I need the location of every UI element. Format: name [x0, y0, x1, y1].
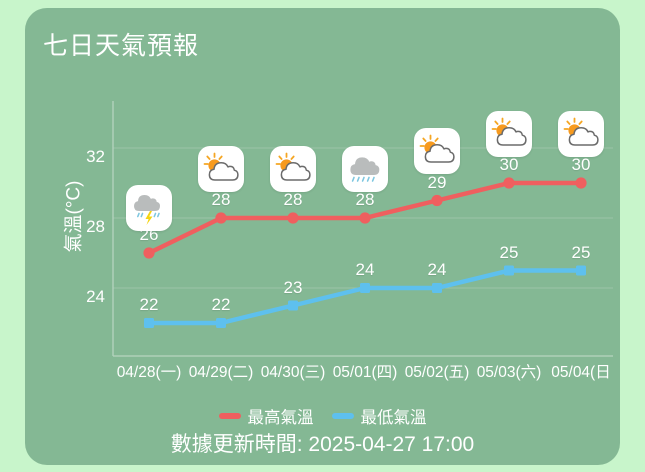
high-temp-label-5: 30: [487, 155, 531, 175]
y-tick-label: 32: [65, 147, 105, 167]
sun-cloud-icon: [558, 111, 604, 157]
high-temp-label-1: 28: [199, 190, 243, 210]
high-temp-label-2: 28: [271, 190, 315, 210]
thunderstorm-icon: [126, 185, 172, 231]
sun-cloud-icon: [486, 111, 532, 157]
x-tick-label-6: 05/04(日: [536, 360, 626, 382]
sun-cloud-icon: [270, 146, 316, 192]
temperature-chart: 氣溫(°C) 32 28 24 04/28(一) 04/29(二) 04/30(…: [25, 8, 620, 465]
sun-cloud-icon: [414, 128, 460, 174]
forecast-card: 七日天氣預報 氣溫(°C) 32 28 24 04/28(一) 04/29(二)…: [25, 8, 620, 465]
legend-swatch-low: [332, 413, 354, 419]
low-temp-label-6: 25: [559, 243, 603, 263]
update-time-text: 數據更新時間: 2025-04-27 17:00: [25, 428, 620, 458]
sun-cloud-icon: [198, 146, 244, 192]
high-temp-label-6: 30: [559, 155, 603, 175]
weather-forecast-screen: 七日天氣預報 氣溫(°C) 32 28 24 04/28(一) 04/29(二)…: [0, 0, 645, 472]
legend-label-low: 最低氣溫: [361, 404, 427, 428]
legend-swatch-high: [219, 413, 241, 419]
y-tick-label: 28: [65, 217, 105, 237]
chart-canvas: [25, 8, 620, 465]
low-temp-label-2: 23: [271, 278, 315, 298]
rain-cloud-icon: [342, 146, 388, 192]
legend-label-high: 最高氣溫: [248, 404, 314, 428]
high-temp-label-3: 28: [343, 190, 387, 210]
legend-item-high[interactable]: 最高氣溫: [219, 404, 314, 428]
low-temp-label-4: 24: [415, 260, 459, 280]
high-temp-label-4: 29: [415, 173, 459, 193]
chart-legend: 最高氣溫 最低氣溫: [25, 404, 620, 428]
low-temp-label-3: 24: [343, 260, 387, 280]
low-temp-label-5: 25: [487, 243, 531, 263]
legend-item-low[interactable]: 最低氣溫: [332, 404, 427, 428]
low-temp-label-1: 22: [199, 295, 243, 315]
low-temp-label-0: 22: [127, 295, 171, 315]
y-tick-label: 24: [65, 287, 105, 307]
